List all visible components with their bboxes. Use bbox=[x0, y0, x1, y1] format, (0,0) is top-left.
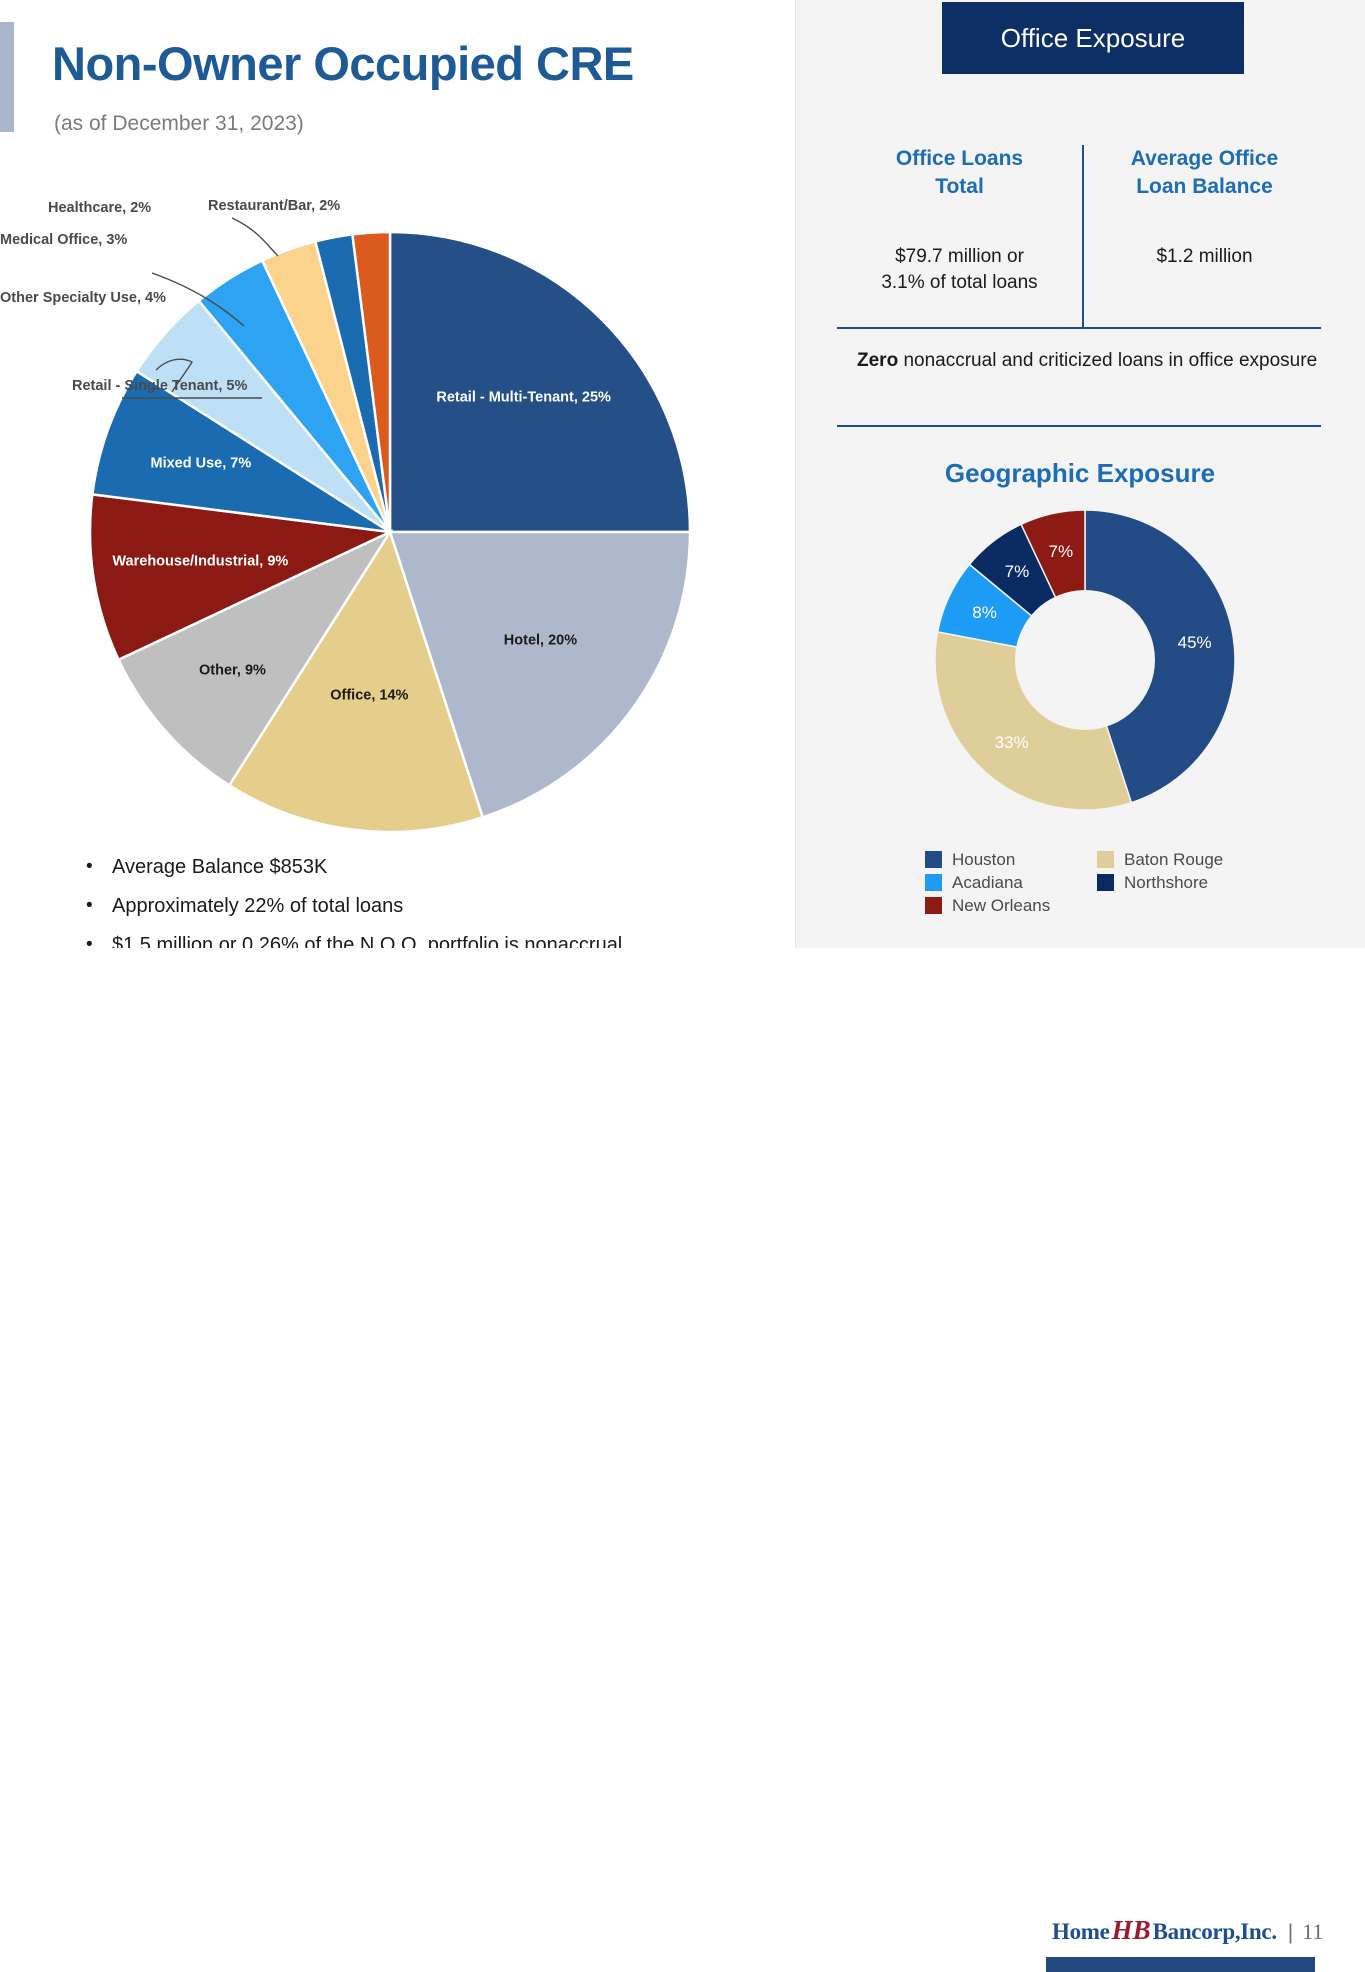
title-accent-bar bbox=[0, 22, 14, 132]
legend-label: Northshore bbox=[1124, 873, 1208, 893]
legend-swatch-icon bbox=[925, 897, 942, 914]
stats-divider-top bbox=[837, 327, 1321, 329]
legend-item: Baton Rouge bbox=[1097, 850, 1269, 870]
logo-home-text: Home bbox=[1052, 1919, 1110, 1945]
legend-swatch-icon bbox=[925, 851, 942, 868]
office-stats-group: Office Loans Total $79.7 million or 3.1%… bbox=[837, 145, 1327, 325]
page-subtitle: (as of December 31, 2023) bbox=[54, 112, 304, 136]
stat-value-line1: $79.7 million or bbox=[895, 246, 1024, 267]
hb-monogram-icon: HB bbox=[1112, 1915, 1151, 1946]
pie-slice-label: Other, 9% bbox=[199, 663, 266, 680]
pie-slice-label: Restaurant/Bar, 2% bbox=[208, 198, 340, 215]
legend-swatch-icon bbox=[1097, 874, 1114, 891]
donut-slice-label: 8% bbox=[972, 603, 997, 623]
pie-slice-label: Retail - Single Tenant, 5% bbox=[72, 378, 247, 395]
legend-swatch-icon bbox=[925, 874, 942, 891]
stat-value: $1.2 million bbox=[1156, 244, 1252, 271]
legend-item: Acadiana bbox=[925, 873, 1097, 893]
stats-vertical-divider bbox=[1082, 145, 1084, 327]
bullet-marker: • bbox=[86, 894, 112, 918]
stat-value-line1: $1.2 million bbox=[1156, 246, 1252, 267]
bullet-text: Approximately 22% of total loans bbox=[112, 894, 403, 919]
list-item: • Average Balance $853K bbox=[86, 855, 786, 880]
stat-label-line2: Total bbox=[935, 175, 984, 198]
donut-slice-label: 33% bbox=[995, 733, 1029, 753]
zero-nonaccrual-note: Zero nonaccrual and criticized loans in … bbox=[857, 348, 1327, 374]
legend-item: Houston bbox=[925, 850, 1097, 870]
stat-value: $79.7 million or 3.1% of total loans bbox=[881, 244, 1037, 297]
office-exposure-panel: Office Exposure Office Loans Total $79.7… bbox=[795, 0, 1365, 948]
logo-bancorp-text: Bancorp,Inc. bbox=[1153, 1919, 1277, 1945]
donut-hole bbox=[1015, 590, 1155, 730]
legend-label: Acadiana bbox=[952, 873, 1023, 893]
pie-slice-label: Healthcare, 2% bbox=[48, 200, 151, 217]
pie-slice-label: Hotel, 20% bbox=[504, 633, 577, 650]
stat-label: Office Loans Total bbox=[896, 145, 1023, 202]
stat-label-line1: Average Office bbox=[1131, 147, 1278, 170]
bullet-text: Average Balance $853K bbox=[112, 855, 327, 880]
legend-item: New Orleans bbox=[925, 896, 1097, 916]
zero-note-rest: nonaccrual and criticized loans in offic… bbox=[898, 350, 1317, 371]
logo-separator: | bbox=[1288, 1921, 1293, 1945]
geographic-legend: HoustonBaton RougeAcadianaNorthshoreNew … bbox=[925, 848, 1325, 917]
legend-label: New Orleans bbox=[952, 896, 1050, 916]
office-exposure-header: Office Exposure bbox=[942, 2, 1244, 74]
donut-chart-svg bbox=[935, 510, 1235, 810]
stats-divider-bottom bbox=[837, 425, 1321, 427]
bullet-marker: • bbox=[86, 855, 112, 879]
list-item: • Approximately 22% of total loans bbox=[86, 894, 786, 919]
donut-slice-label: 7% bbox=[1048, 542, 1073, 562]
stat-label-line2: Loan Balance bbox=[1136, 175, 1273, 198]
legend-label: Houston bbox=[952, 850, 1015, 870]
stat-label-line1: Office Loans bbox=[896, 147, 1023, 170]
noo-cre-pie-chart: Retail - Multi-Tenant, 25%Hotel, 20%Offi… bbox=[0, 160, 790, 860]
footer-accent-bar bbox=[1046, 1957, 1315, 1972]
geographic-donut-chart: 45%33%8%7%7% bbox=[935, 510, 1235, 830]
pie-slice-label: Office, 14% bbox=[330, 687, 408, 704]
stat-label: Average Office Loan Balance bbox=[1131, 145, 1278, 202]
stat-office-loans-total: Office Loans Total $79.7 million or 3.1%… bbox=[837, 145, 1082, 325]
slide-footer: Home HB Bancorp,Inc. | 11 bbox=[0, 948, 1365, 1024]
pie-slice-label: Mixed Use, 7% bbox=[151, 456, 252, 473]
pie-slice-label: Other Specialty Use, 4% bbox=[0, 290, 166, 307]
pie-slice-label: Retail - Multi-Tenant, 25% bbox=[436, 390, 611, 407]
stat-average-office-loan-balance: Average Office Loan Balance $1.2 million bbox=[1082, 145, 1327, 325]
legend-label: Baton Rouge bbox=[1124, 850, 1223, 870]
page-title: Non-Owner Occupied CRE bbox=[52, 38, 634, 90]
page-number: 11 bbox=[1302, 1919, 1323, 1945]
donut-slice-label: 45% bbox=[1178, 633, 1212, 653]
pie-slice bbox=[390, 232, 690, 532]
geographic-exposure-title: Geographic Exposure bbox=[795, 458, 1365, 489]
pie-chart-svg bbox=[0, 160, 790, 860]
legend-swatch-icon bbox=[1097, 851, 1114, 868]
zero-note-emphasis: Zero bbox=[857, 350, 898, 371]
legend-item: Northshore bbox=[1097, 873, 1269, 893]
pie-slice-label: Warehouse/Industrial, 9% bbox=[112, 554, 288, 571]
company-logo: Home HB Bancorp,Inc. | 11 bbox=[1052, 1915, 1323, 1946]
pie-slice-label: Medical Office, 3% bbox=[0, 232, 127, 249]
donut-slice-label: 7% bbox=[1005, 562, 1030, 582]
stat-value-line2: 3.1% of total loans bbox=[881, 272, 1037, 293]
pie-slice-group bbox=[90, 232, 690, 832]
panel-divider bbox=[795, 0, 796, 948]
